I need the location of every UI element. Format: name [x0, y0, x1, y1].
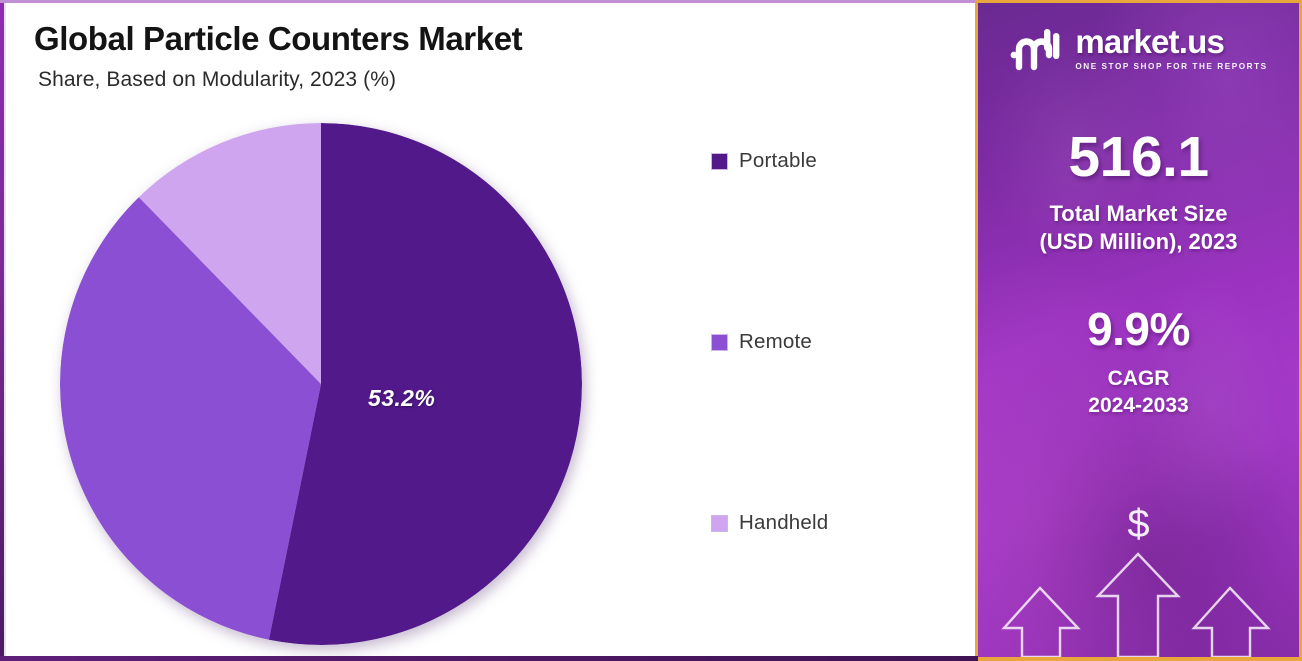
chart-panel: Global Particle Counters Market Share, B… — [0, 0, 975, 661]
legend-label-remote: Remote — [739, 330, 812, 354]
frame-border-left-inner — [4, 0, 6, 661]
stat-market-size: 516.1 Total Market Size (USD Million), 2… — [978, 129, 1299, 256]
growth-arrows-icon — [978, 492, 1299, 657]
pie-svg — [60, 123, 582, 645]
stat-cagr-caption-line2: 2024-2033 — [978, 393, 1299, 420]
stat-cagr: 9.9% CAGR 2024-2033 — [978, 306, 1299, 420]
stat-cagr-caption-line1: CAGR — [978, 366, 1299, 393]
frame-border-bottom — [0, 656, 978, 661]
legend-label-portable: Portable — [739, 149, 817, 173]
stat-market-size-value: 516.1 — [978, 129, 1299, 186]
brand-text: market.us ONE STOP SHOP FOR THE REPORTS — [1075, 25, 1267, 71]
page-subtitle: Share, Based on Modularity, 2023 (%) — [38, 68, 975, 92]
legend-swatch-remote — [712, 335, 727, 350]
stat-market-size-caption: Total Market Size (USD Million), 2023 — [978, 200, 1299, 256]
legend-item-handheld[interactable]: Handheld — [712, 510, 952, 536]
legend-swatch-handheld — [712, 516, 727, 531]
infographic-root: Global Particle Counters Market Share, B… — [0, 0, 1302, 661]
stat-market-size-caption-line2: (USD Million), 2023 — [978, 228, 1299, 256]
chart-legend: Portable Remote Handheld — [712, 148, 952, 536]
page-title: Global Particle Counters Market — [34, 22, 975, 57]
frame-border-top — [0, 0, 975, 3]
market-us-logo-icon — [1009, 25, 1063, 71]
legend-item-remote[interactable]: Remote — [712, 329, 952, 355]
brand-name: market.us — [1075, 25, 1267, 58]
brand-tagline: ONE STOP SHOP FOR THE REPORTS — [1075, 62, 1267, 71]
stat-cagr-value: 9.9% — [978, 306, 1299, 352]
legend-item-portable[interactable]: Portable — [712, 148, 952, 174]
legend-label-handheld: Handheld — [739, 511, 828, 535]
stat-market-size-caption-line1: Total Market Size — [978, 200, 1299, 228]
pie-slice-label-portable: 53.2% — [368, 385, 435, 412]
brand-logo[interactable]: market.us ONE STOP SHOP FOR THE REPORTS — [978, 25, 1299, 71]
legend-swatch-portable — [712, 154, 727, 169]
stat-cagr-caption: CAGR 2024-2033 — [978, 366, 1299, 420]
dollar-sign-icon: $ — [978, 504, 1299, 544]
brand-stats-panel: market.us ONE STOP SHOP FOR THE REPORTS … — [975, 0, 1302, 661]
growth-arrows-graphic: $ — [978, 492, 1299, 657]
pie-chart: 53.2% — [60, 123, 585, 648]
